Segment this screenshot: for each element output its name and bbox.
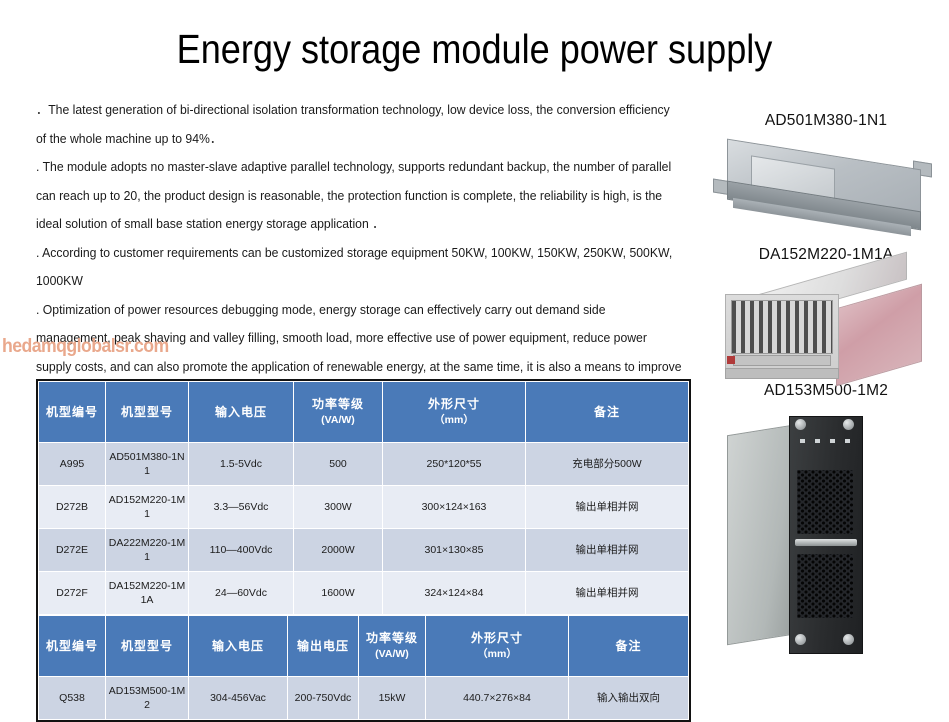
cell-dimensions: 300×124×163 (383, 486, 526, 529)
status-led (800, 439, 805, 443)
vented-rack-module-image (703, 270, 949, 382)
flat-chassis-module-image (703, 136, 949, 246)
specification-table: 机型编号 机型型号 输入电压 功率等级(VA/W) 外形尺寸（mm） 备注 A9… (36, 379, 691, 722)
cell-dimensions: 440.7×276×84 (426, 677, 569, 720)
cell-model-number: D272B (39, 486, 106, 529)
cell-remarks: 输出单相并网 (526, 529, 689, 572)
cell-output-voltage: 200-750Vdc (288, 677, 359, 720)
product-image-column: AD501M380-1N1 DA152M220-1M1A AD153M500-1… (703, 112, 949, 708)
product-label-da152m220-1m1a: DA152M220-1M1A (703, 246, 949, 264)
rack-module-bottom-edge (725, 368, 839, 379)
cell-remarks: 输入输出双向 (569, 677, 689, 720)
header-remarks: 备注 (526, 382, 689, 443)
cell-remarks: 输出单相并网 (526, 486, 689, 529)
rack-module-connector-slot (733, 355, 831, 366)
cell-model-number: Q538 (39, 677, 106, 720)
cell-model-type: DA222M220-1M1 (106, 529, 189, 572)
description-paragraph-1: ．The latest generation of bi-directional… (36, 96, 682, 153)
table-row: A995 AD501M380-1N1 1.5-5Vdc 500 250*120*… (39, 443, 689, 486)
cell-model-number: A995 (39, 443, 106, 486)
fan-grille-lower (797, 554, 853, 618)
thumbscrew-icon (843, 419, 854, 430)
header-output-voltage: 输出电压 (288, 616, 359, 677)
thumbscrew-icon (795, 634, 806, 645)
table-header-row-2: 机型编号 机型型号 输入电压 输出电压 功率等级(VA/W) 外形尺寸（mm） … (39, 616, 689, 677)
header-model-number: 机型编号 (39, 616, 106, 677)
cell-input-voltage: 1.5-5Vdc (189, 443, 294, 486)
header-power-rating: 功率等级(VA/W) (294, 382, 383, 443)
header-model-number: 机型编号 (39, 382, 106, 443)
cell-dimensions: 301×130×85 (383, 529, 526, 572)
module-handle (795, 539, 857, 546)
cell-model-type: AD501M380-1N1 (106, 443, 189, 486)
fan-module-front-panel (789, 416, 863, 654)
header-input-voltage: 输入电压 (189, 382, 294, 443)
fan-grille-upper (797, 470, 853, 534)
cell-input-voltage: 3.3—56Vdc (189, 486, 294, 529)
thumbscrew-icon (843, 634, 854, 645)
cell-power-rating: 2000W (294, 529, 383, 572)
tall-fan-module-image (703, 406, 949, 656)
description-paragraph-2: . The module adopts no master-slave adap… (36, 153, 682, 239)
status-led-row (795, 438, 855, 444)
header-dimensions: 外形尺寸（mm） (426, 616, 569, 677)
cell-remarks: 充电部分500W (526, 443, 689, 486)
cell-dimensions: 250*120*55 (383, 443, 526, 486)
status-led (815, 439, 820, 443)
product-label-ad501m380-1n1: AD501M380-1N1 (703, 112, 949, 130)
cell-model-type: AD153M500-1M2 (106, 677, 189, 720)
cell-input-voltage: 24—60Vdc (189, 572, 294, 615)
ventilation-grille (731, 300, 833, 354)
status-led (830, 439, 835, 443)
cell-model-type: AD152M220-1M1 (106, 486, 189, 529)
header-input-voltage: 输入电压 (189, 616, 288, 677)
cell-power-rating: 15kW (359, 677, 426, 720)
header-dimensions: 外形尺寸（mm） (383, 382, 526, 443)
fan-module-side-panel (727, 425, 793, 645)
cell-model-type: DA152M220-1M1A (106, 572, 189, 615)
cell-power-rating: 500 (294, 443, 383, 486)
status-led (845, 439, 850, 443)
cell-remarks: 输出单相并网 (526, 572, 689, 615)
cell-input-voltage: 110—400Vdc (189, 529, 294, 572)
rack-module-side-panel (836, 284, 922, 387)
table-row: D272F DA152M220-1M1A 24—60Vdc 1600W 324×… (39, 572, 689, 615)
product-label-ad153m500-1m2: AD153M500-1M2 (703, 382, 949, 400)
cell-model-number: D272F (39, 572, 106, 615)
header-remarks: 备注 (569, 616, 689, 677)
description-paragraph-3: . According to customer requirements can… (36, 239, 682, 296)
cell-power-rating: 1600W (294, 572, 383, 615)
header-model-type: 机型型号 (106, 382, 189, 443)
table-header-row-1: 机型编号 机型型号 输入电压 功率等级(VA/W) 外形尺寸（mm） 备注 (39, 382, 689, 443)
cell-dimensions: 324×124×84 (383, 572, 526, 615)
cell-power-rating: 300W (294, 486, 383, 529)
thumbscrew-icon (795, 419, 806, 430)
table-row: D272B AD152M220-1M1 3.3—56Vdc 300W 300×1… (39, 486, 689, 529)
page-title: Energy storage module power supply (57, 26, 892, 73)
rack-module-red-latch (727, 356, 735, 364)
header-model-type: 机型型号 (106, 616, 189, 677)
description-text-block: ．The latest generation of bi-directional… (36, 96, 682, 410)
header-power-rating: 功率等级(VA/W) (359, 616, 426, 677)
table-row: Q538 AD153M500-1M2 304-456Vac 200-750Vdc… (39, 677, 689, 720)
cell-input-voltage: 304-456Vac (189, 677, 288, 720)
table-row: D272E DA222M220-1M1 110—400Vdc 2000W 301… (39, 529, 689, 572)
cell-model-number: D272E (39, 529, 106, 572)
